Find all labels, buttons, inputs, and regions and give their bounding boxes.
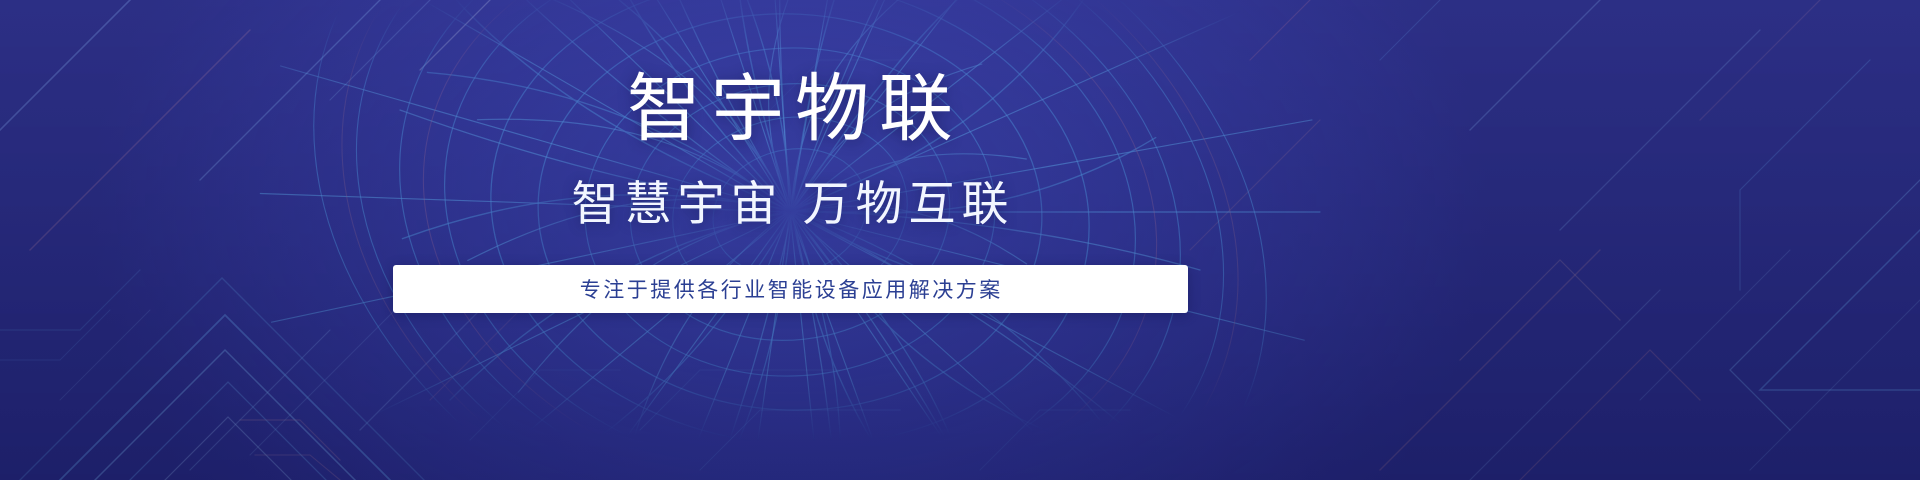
tagline-banner-box: 专注于提供各行业智能设备应用解决方案 (393, 265, 1188, 313)
tagline-text: 专注于提供各行业智能设备应用解决方案 (577, 274, 1003, 304)
hero-banner: 智宇物联 智慧宇宙 万物互联 专注于提供各行业智能设备应用解决方案 (0, 0, 1920, 480)
page-subtitle: 智慧宇宙 万物互联 (565, 180, 1014, 227)
page-title: 智宇物联 (617, 72, 963, 146)
banner-content: 智宇物联 智慧宇宙 万物互联 专注于提供各行业智能设备应用解决方案 (0, 0, 1580, 480)
